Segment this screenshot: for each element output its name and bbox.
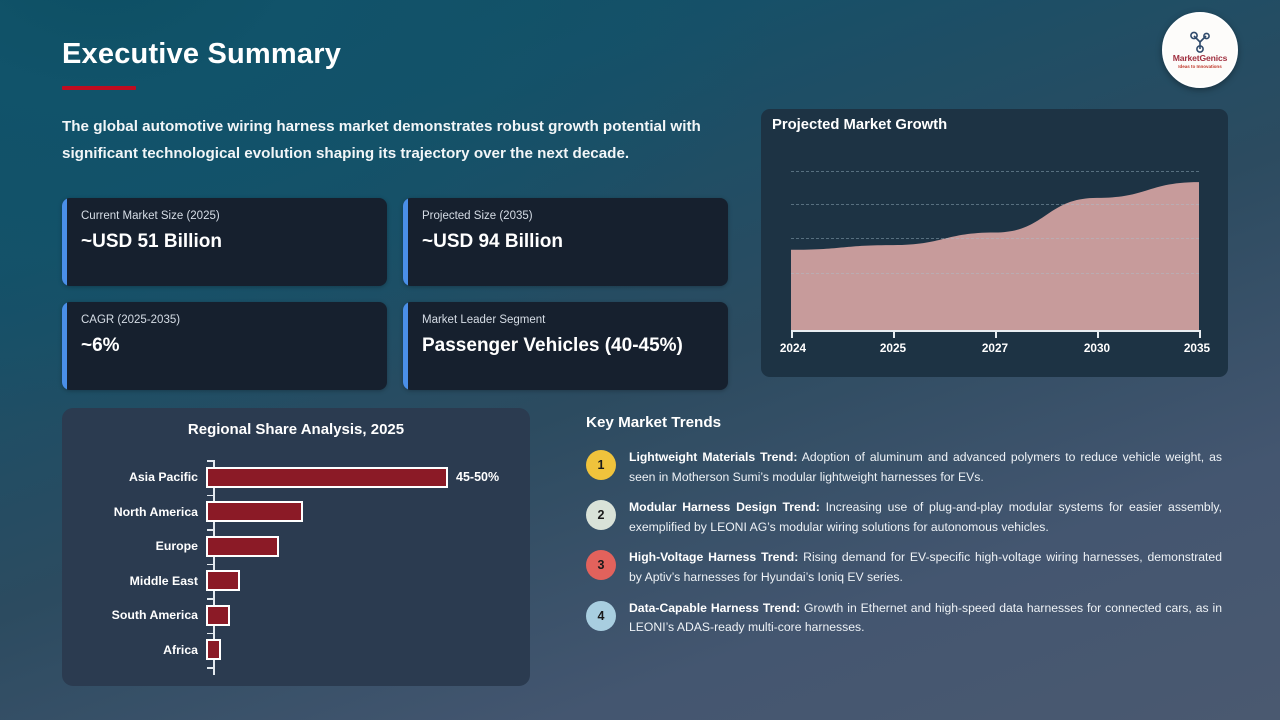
trend-description: Data-Capable Harness Trend: Growth in Et…: [629, 599, 1222, 638]
chart-gridline: [791, 273, 1199, 274]
bar-track: [206, 633, 530, 668]
trends-section-title: Key Market Trends: [586, 414, 721, 431]
logo-tagline: Ideas to Innovations: [1178, 64, 1221, 69]
kpi-card-projected-size: Projected Size (2035) ~USD 94 Billion: [403, 198, 728, 286]
area-series-path: [791, 157, 1199, 330]
trend-item: 1Lightweight Materials Trend: Adoption o…: [586, 448, 1222, 487]
x-axis-tick: [893, 330, 895, 338]
kpi-value: Passenger Vehicles (40-45%): [422, 334, 712, 358]
title-underline-rule: [62, 86, 136, 90]
trend-number-badge: 1: [586, 450, 616, 480]
projected-market-growth-chart: Projected Market Growth 2024202520272030…: [761, 109, 1228, 377]
bar-category-label: Africa: [62, 643, 206, 657]
kpi-value: ~USD 94 Billion: [422, 230, 712, 254]
x-axis-tick: [791, 330, 793, 338]
bar-row: Europe: [62, 529, 530, 564]
x-axis-tick-labels: 20242025202720302035: [761, 341, 1228, 361]
trend-heading: High-Voltage Harness Trend:: [629, 550, 798, 564]
bar-track: [206, 564, 530, 599]
trend-number-badge: 4: [586, 601, 616, 631]
kpi-label: CAGR (2025-2035): [81, 313, 371, 328]
regional-share-chart: Regional Share Analysis, 2025 Asia Pacif…: [62, 408, 530, 686]
bar-row: Asia Pacific45-50%: [62, 460, 530, 495]
bar-fill[interactable]: [206, 570, 240, 591]
x-axis-tick-label: 2024: [780, 341, 806, 355]
chart-gridline: [791, 238, 1199, 239]
bar-rows: Asia Pacific45-50%North AmericaEuropeMid…: [62, 460, 530, 675]
bar-track: [206, 598, 530, 633]
company-logo: MarketGenics Ideas to Innovations: [1162, 12, 1238, 88]
trend-heading: Data-Capable Harness Trend:: [629, 601, 800, 615]
kpi-label: Current Market Size (2025): [81, 209, 371, 224]
trend-item: 2Modular Harness Design Trend: Increasin…: [586, 498, 1222, 537]
kpi-label: Market Leader Segment: [422, 313, 712, 328]
x-axis-tick: [1199, 330, 1201, 338]
chart-title: Regional Share Analysis, 2025: [62, 421, 530, 438]
page-subtitle: The global automotive wiring harness mar…: [62, 113, 742, 167]
x-axis-tick-label: 2030: [1084, 341, 1110, 355]
trends-list: 1Lightweight Materials Trend: Adoption o…: [586, 448, 1222, 649]
bar-row: Africa: [62, 633, 530, 668]
kpi-card-cagr: CAGR (2025-2035) ~6%: [62, 302, 387, 390]
bar-track: [206, 495, 530, 530]
page-title: Executive Summary: [62, 38, 341, 71]
bar-row: South America: [62, 598, 530, 633]
trend-number-badge: 3: [586, 550, 616, 580]
trend-description: Modular Harness Design Trend: Increasing…: [629, 498, 1222, 537]
y-axis-tick: [207, 495, 214, 497]
bar-track: 45-50%: [206, 460, 530, 495]
x-axis-tick-label: 2035: [1184, 341, 1210, 355]
chart-title: Projected Market Growth: [772, 117, 947, 133]
bar-fill[interactable]: [206, 501, 303, 522]
bar-category-label: Middle East: [62, 574, 206, 588]
bar-fill[interactable]: [206, 467, 448, 488]
bar-track: [206, 529, 530, 564]
logo-name: MarketGenics: [1173, 54, 1228, 63]
kpi-label: Projected Size (2035): [422, 209, 712, 224]
bar-category-label: Europe: [62, 539, 206, 553]
x-axis-tick: [995, 330, 997, 338]
y-axis-tick: [207, 667, 214, 669]
chart-gridline: [791, 204, 1199, 205]
bar-fill[interactable]: [206, 536, 279, 557]
bar-fill[interactable]: [206, 639, 221, 660]
y-axis-tick: [207, 529, 214, 531]
area-chart-plot: [791, 157, 1199, 330]
trend-item: 3High-Voltage Harness Trend: Rising dema…: [586, 548, 1222, 587]
bar-category-label: South America: [62, 608, 206, 622]
x-axis-tick: [1097, 330, 1099, 338]
trend-description: High-Voltage Harness Trend: Rising deman…: [629, 548, 1222, 587]
y-axis-tick: [207, 460, 214, 462]
trend-item: 4Data-Capable Harness Trend: Growth in E…: [586, 599, 1222, 638]
kpi-card-current-market-size: Current Market Size (2025) ~USD 51 Billi…: [62, 198, 387, 286]
kpi-value: ~USD 51 Billion: [81, 230, 371, 254]
kpi-card-grid: Current Market Size (2025) ~USD 51 Billi…: [62, 198, 728, 390]
chart-gridline: [791, 171, 1199, 172]
bar-row: North America: [62, 495, 530, 530]
kpi-card-market-leader-segment: Market Leader Segment Passenger Vehicles…: [403, 302, 728, 390]
x-axis-tick-label: 2025: [880, 341, 906, 355]
bar-category-label: Asia Pacific: [62, 470, 206, 484]
bar-fill[interactable]: [206, 605, 230, 626]
y-axis-tick: [207, 564, 214, 566]
bar-value-label: 45-50%: [456, 470, 499, 484]
trend-heading: Lightweight Materials Trend:: [629, 450, 797, 464]
kpi-value: ~6%: [81, 334, 371, 358]
network-node-icon: [1187, 31, 1213, 54]
y-axis-tick: [207, 633, 214, 635]
trend-number-badge: 2: [586, 500, 616, 530]
y-axis-tick: [207, 598, 214, 600]
x-axis-tick-label: 2027: [982, 341, 1008, 355]
bar-row: Middle East: [62, 564, 530, 599]
trend-description: Lightweight Materials Trend: Adoption of…: [629, 448, 1222, 487]
bar-category-label: North America: [62, 505, 206, 519]
trend-heading: Modular Harness Design Trend:: [629, 500, 820, 514]
